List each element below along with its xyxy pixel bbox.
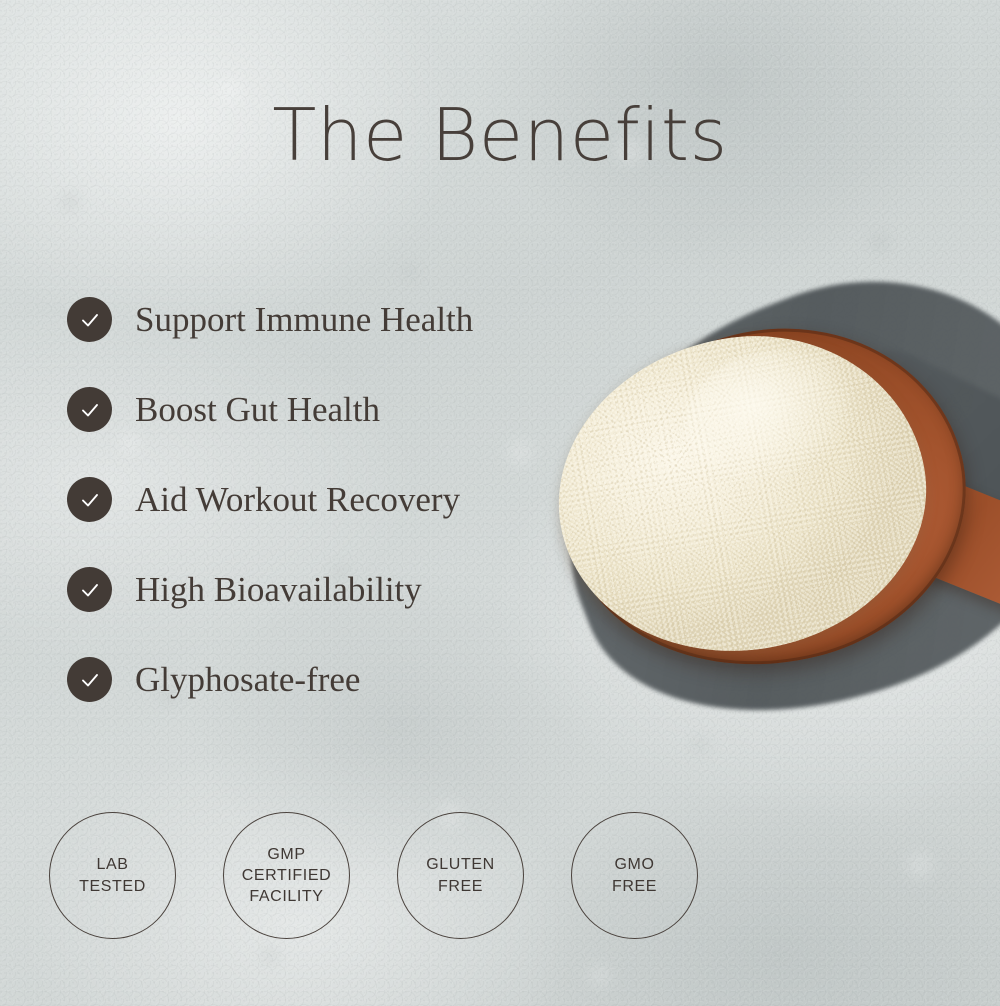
badge-gmp-certified-facility: GMP CERTIFIED FACILITY [223,812,350,939]
benefits-panel: The Benefits Support Immune Health Boost… [0,0,1000,1006]
benefit-label: Support Immune Health [135,302,473,337]
check-icon [67,657,112,702]
list-item: Aid Workout Recovery [67,477,667,522]
badge-gluten-free: GLUTEN FREE [397,812,524,939]
check-icon [67,387,112,432]
badge-label: GMP CERTIFIED FACILITY [242,844,332,907]
certification-badges: LAB TESTED GMP CERTIFIED FACILITY GLUTEN… [49,812,698,939]
check-icon [67,297,112,342]
list-item: Boost Gut Health [67,387,667,432]
benefit-label: Aid Workout Recovery [135,482,460,517]
benefits-list: Support Immune Health Boost Gut Health A… [67,297,667,747]
badge-label: GMO FREE [612,854,657,896]
page-title: The Benefits [0,98,1000,174]
badge-label: GLUTEN FREE [426,854,495,896]
benefit-label: Glyphosate-free [135,662,360,697]
list-item: High Bioavailability [67,567,667,612]
list-item: Glyphosate-free [67,657,667,702]
badge-lab-tested: LAB TESTED [49,812,176,939]
check-icon [67,477,112,522]
badge-gmo-free: GMO FREE [571,812,698,939]
benefit-label: High Bioavailability [135,572,422,607]
check-icon [67,567,112,612]
benefit-label: Boost Gut Health [135,392,380,427]
badge-label: LAB TESTED [79,854,146,896]
list-item: Support Immune Health [67,297,667,342]
